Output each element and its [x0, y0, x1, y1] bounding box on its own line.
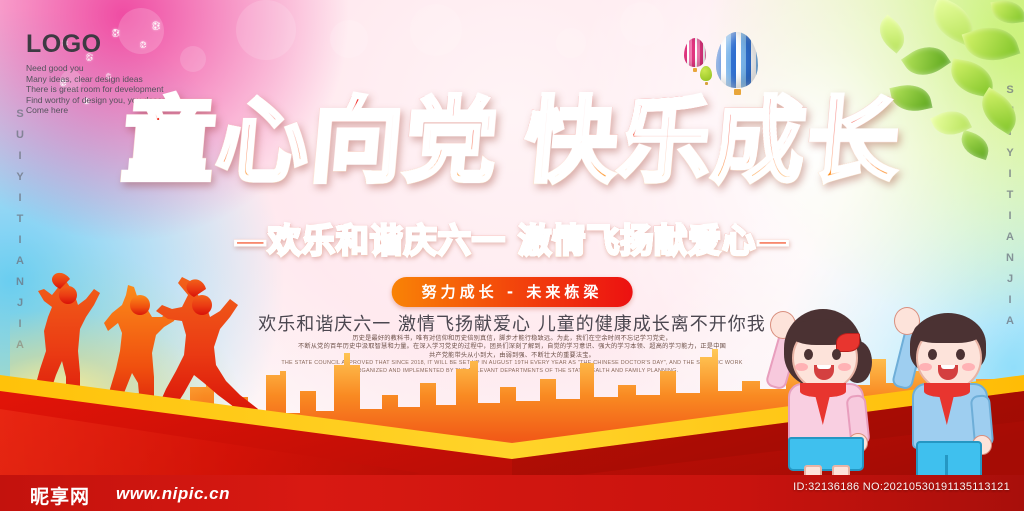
girl-eye-right [832, 349, 841, 360]
logo-tagline-line: Need good you [26, 63, 174, 74]
logo-tagline-line: Many ideas, clear design ideas [26, 74, 174, 85]
girl-cheek-left [795, 363, 808, 371]
boy-cheek-left [919, 363, 932, 371]
girl-skirt [788, 437, 864, 471]
boy-eye-right [956, 349, 965, 360]
poster-subtitle: —欢乐和谐庆六一 激情飞扬献爱心— [0, 224, 1024, 257]
girl-eye-left [804, 349, 813, 360]
headline-part-1: 童心向党 [118, 88, 503, 195]
boy-tooth [941, 365, 955, 369]
boy-fringe [914, 319, 980, 343]
footer-brand: 昵享网 [30, 482, 90, 509]
poster-canvas: SUIYITIANJIA SUIYITIANJIA 🕃 🕃 🕃 🕃 🕃 🕃 🕃 … [0, 0, 1024, 511]
girl-cheek-right [838, 363, 851, 371]
hot-air-balloon-green [700, 66, 712, 85]
girl-hair-bow [836, 333, 860, 352]
footer-url[interactable]: www.nipic.cn [116, 484, 230, 504]
image-id-text: ID:32136186 NO:20210530191135113121 [793, 481, 1010, 493]
boy-eye-left [928, 349, 937, 360]
logo-title: LOGO [26, 32, 174, 57]
slogan-pill-banner: 努力成长 - 未来栋梁 [392, 277, 633, 307]
hot-air-balloon-blue [716, 32, 758, 95]
boy-cheek-right [962, 363, 975, 371]
girl-tooth [817, 365, 831, 369]
cartoon-girl [770, 297, 888, 483]
cartoon-boy [890, 297, 1008, 483]
headline-part-2: 快乐成长 [520, 88, 905, 195]
two-saluting-cartoon-children [768, 293, 1018, 483]
poster-headline: 童心向党快乐成长 [0, 96, 1024, 188]
